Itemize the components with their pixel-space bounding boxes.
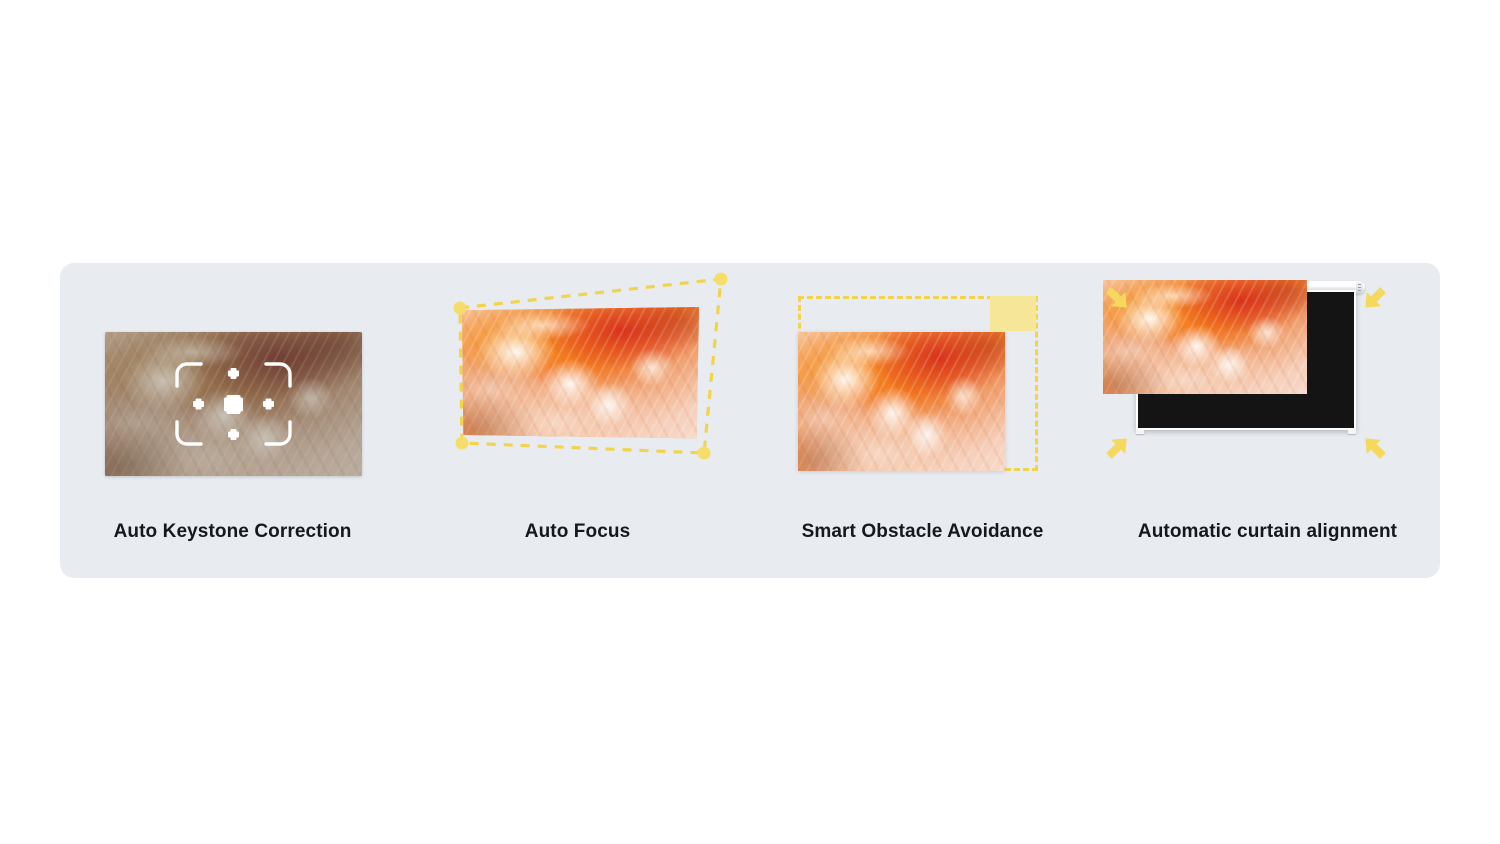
arrow-bottom-right-icon: [1358, 431, 1390, 463]
feature-label-automatic-curtain-alignment: Automatic curtain alignment: [1095, 521, 1440, 543]
projected-image-avoided: [798, 332, 1005, 471]
auto-focus-figure: [405, 263, 750, 503]
automatic-curtain-figure: [1095, 263, 1440, 503]
auto-keystone-figure: [60, 263, 405, 503]
flower-shade-layer: [798, 332, 1005, 471]
flower-shade-layer: [105, 332, 362, 476]
corner-handle-top-left-icon[interactable]: [454, 302, 467, 315]
projected-image-dim: [105, 332, 362, 476]
smart-obstacle-figure: [750, 263, 1095, 503]
corner-handle-top-right-icon[interactable]: [715, 273, 728, 286]
corner-handle-bottom-right-icon[interactable]: [698, 447, 711, 460]
feature-panel-auto-focus[interactable]: Auto Focus: [405, 263, 750, 578]
feature-panel-smart-obstacle-avoidance[interactable]: Smart Obstacle Avoidance: [750, 263, 1095, 578]
arrow-bottom-left-icon: [1102, 431, 1134, 463]
keystone-dashed-quad-icon: [405, 263, 750, 503]
feature-label-smart-obstacle-avoidance: Smart Obstacle Avoidance: [750, 521, 1095, 543]
flower-shade-layer: [1103, 280, 1307, 394]
keystone-outline: [460, 279, 721, 453]
screen-weight-bar-left: [1136, 430, 1144, 434]
obstacle-block-icon: [990, 296, 1036, 331]
page-root: Auto Keystone Correction: [0, 0, 1500, 844]
feature-highlights-card: Auto Keystone Correction: [60, 263, 1440, 578]
corner-handle-bottom-left-icon[interactable]: [456, 437, 469, 450]
roller-cap-right-icon: [1356, 282, 1363, 293]
feature-panel-list: Auto Keystone Correction: [60, 263, 1440, 578]
feature-label-auto-focus: Auto Focus: [405, 521, 750, 543]
feature-panel-automatic-curtain-alignment[interactable]: Automatic curtain alignment: [1095, 263, 1440, 578]
projected-image-on-screen: [1103, 280, 1307, 394]
feature-label-auto-keystone-correction: Auto Keystone Correction: [60, 521, 405, 543]
feature-panel-auto-keystone-correction[interactable]: Auto Keystone Correction: [60, 263, 405, 578]
screen-weight-bar-right: [1348, 430, 1356, 434]
